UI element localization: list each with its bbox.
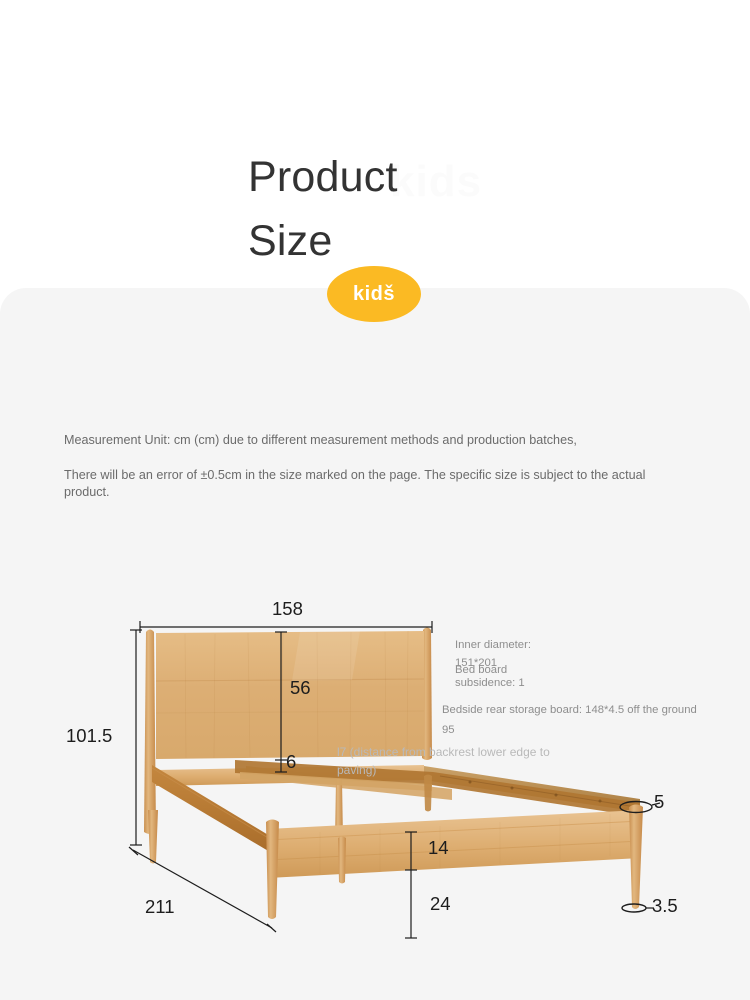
page-title: Product Size: [248, 145, 398, 273]
annotation-bed-board-value: subsidence: 1: [455, 676, 525, 690]
bed-dimension-diagram: 158 101.5 56 6 211 14 24 5 3.5 l7 (dista…: [0, 560, 750, 980]
annotation-storage-board: Bedside rear storage board: 148*4.5 off …: [442, 703, 697, 717]
dimension-leg-bottom-diameter: 3.5: [652, 896, 678, 915]
annotation-bed-board-label: Bed board: [455, 663, 507, 677]
measurement-unit-note: Measurement Unit: cm (cm) due to differe…: [64, 432, 704, 449]
annotation-inner-diameter-label: Inner diameter:: [455, 638, 531, 652]
dimension-leg-top-diameter: 5: [654, 792, 664, 811]
dimension-headboard-gap: 6: [286, 752, 296, 771]
page-title-line-2: Size: [248, 209, 398, 273]
dimension-length-total: 211: [145, 897, 175, 916]
dimension-ground-clearance: 24: [430, 894, 451, 913]
dimension-height-total: 101.5: [66, 726, 112, 745]
dimension-headboard-panel: 56: [290, 678, 311, 697]
backrest-distance-note: l7 (distance from backrest lower edge to…: [337, 743, 567, 779]
dimension-rail-height: 14: [428, 838, 449, 857]
page-title-line-1: Product: [248, 145, 398, 209]
watermark-text: kids: [390, 152, 482, 212]
kids-badge-label: kidš: [353, 283, 395, 306]
measurement-error-note: There will be an error of ±0.5cm in the …: [64, 467, 684, 501]
product-size-page: kids Product Size kidš Measurement Unit:…: [0, 0, 750, 1000]
kids-badge: kidš: [327, 266, 421, 322]
dimension-width-total: 158: [272, 599, 303, 618]
annotation-storage-board-value: 95: [442, 723, 455, 737]
